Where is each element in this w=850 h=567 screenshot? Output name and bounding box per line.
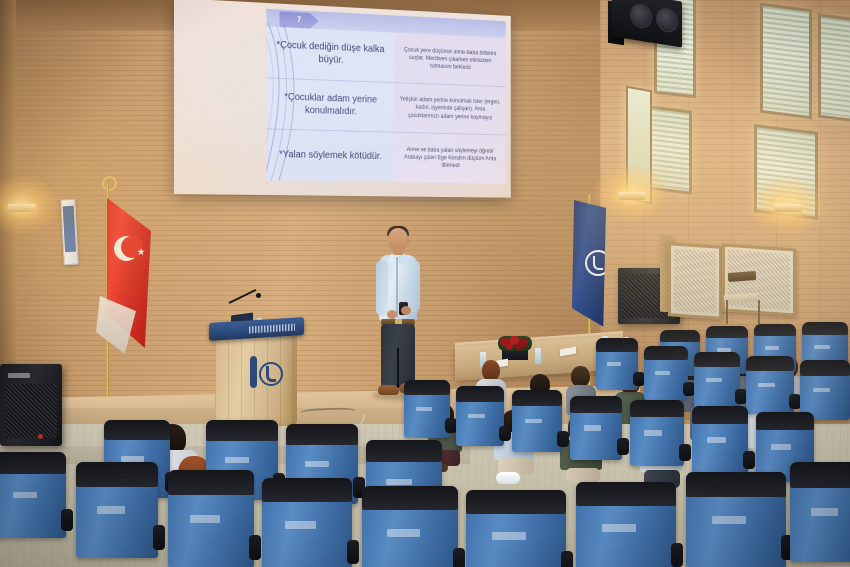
- seat[interactable]: [686, 472, 786, 567]
- seat[interactable]: [692, 406, 748, 474]
- seat[interactable]: [644, 346, 688, 400]
- seat[interactable]: [262, 478, 352, 567]
- presentation-slide: 7 *Çocuk dediğin düşe kalka büyür. *Çocu…: [266, 9, 505, 184]
- flag-cloth: [572, 200, 606, 332]
- floor-speaker-icon: [0, 364, 62, 446]
- slide-description-2: Yetişkin adam yerine konulmak ister (erg…: [394, 83, 506, 135]
- slide-heading-1: *Çocuk dediğin düşe kalka büyür.: [266, 26, 394, 81]
- podium-emblem-icon: [259, 362, 283, 386]
- side-chair: [724, 272, 758, 324]
- seat[interactable]: [466, 490, 566, 567]
- slide-left-column: *Çocuk dediğin düşe kalka büyür. *Çocukl…: [266, 26, 394, 182]
- seat[interactable]: [512, 390, 562, 452]
- shoe: [378, 385, 399, 395]
- head: [388, 228, 408, 252]
- presenter-person: [370, 228, 426, 403]
- seat[interactable]: [570, 396, 622, 460]
- seat[interactable]: [576, 482, 676, 567]
- window: [760, 3, 812, 119]
- slide-heading-3: *Yalan söylemek kötüdür.: [266, 130, 394, 182]
- projection-screen: 7 *Çocuk dediğin düşe kalka büyür. *Çocu…: [174, 0, 511, 198]
- crescent-inner: [121, 236, 143, 258]
- flower-arrangement: [498, 336, 532, 358]
- window: [818, 14, 850, 123]
- slide-description-3: Anne ve baba yalan söylemeyi öğretir Ara…: [394, 133, 506, 184]
- seat[interactable]: [456, 386, 504, 446]
- seat[interactable]: [596, 338, 638, 390]
- university-emblem-icon: [585, 250, 611, 276]
- acoustic-panel: [668, 242, 722, 320]
- seat[interactable]: [168, 470, 254, 567]
- slide-description-1: Çocuk yere düşünce anne-baba birbirini s…: [394, 33, 506, 86]
- flag-finial-icon: [102, 176, 117, 191]
- seat[interactable]: [790, 462, 850, 562]
- turkish-flag: [78, 178, 150, 408]
- seat[interactable]: [76, 462, 158, 558]
- auditorium-scene: 7 *Çocuk dediğin düşe kalka büyür. *Çocu…: [0, 0, 850, 567]
- water-bottle: [535, 348, 541, 364]
- seat[interactable]: [746, 356, 794, 414]
- podium-handle: [250, 356, 257, 388]
- slide-content-table: *Çocuk dediğin düşe kalka büyür. *Çocukl…: [266, 26, 505, 183]
- slide-right-column: Çocuk yere düşünce anne-baba birbirini s…: [394, 33, 506, 184]
- slide-heading-2: *Çocuklar adam yerine konulmalıdır.: [266, 78, 394, 132]
- gooseneck-microphone-icon: [227, 302, 261, 322]
- podium-logo-icon: [249, 324, 295, 334]
- seat[interactable]: [404, 380, 450, 438]
- seat[interactable]: [800, 360, 850, 420]
- seat[interactable]: [694, 352, 740, 408]
- seat[interactable]: [362, 486, 458, 567]
- seat[interactable]: [0, 452, 66, 538]
- podium: [209, 318, 304, 426]
- seat[interactable]: [630, 400, 684, 466]
